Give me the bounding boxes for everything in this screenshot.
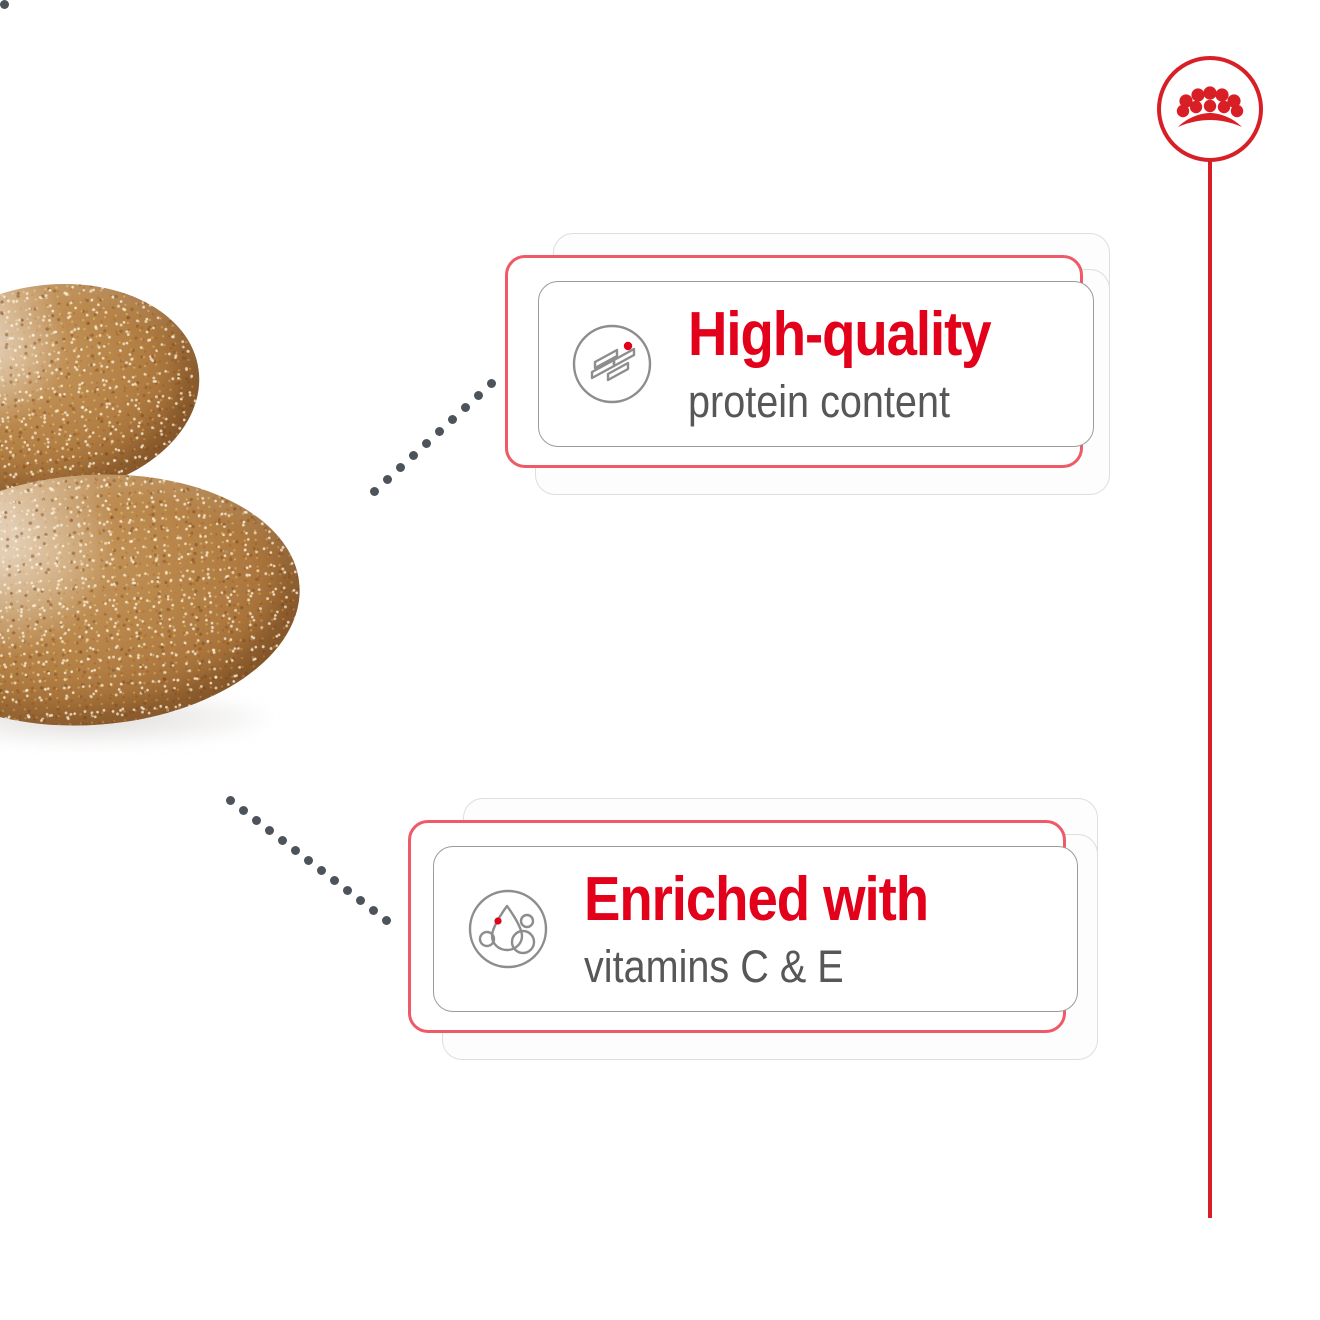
card-title: High-quality [688,303,991,366]
poster-canvas: High-quality protein content [0,0,1320,1320]
brand-logo-circle[interactable] [1157,56,1263,162]
protein-strand-icon [560,312,664,416]
crown-icon [1173,82,1247,136]
card-content: High-quality protein content [560,281,1100,447]
card-subtitle: protein content [688,378,991,425]
card-subtitle: vitamins C & E [584,943,928,990]
feature-card-enriched-vitamins[interactable]: Enriched with vitamins C & E [408,798,1098,1060]
card-text-block: Enriched with vitamins C & E [584,868,975,990]
card-content: Enriched with vitamins C & E [456,846,1086,1012]
brand-mark [1157,56,1267,1266]
brand-vertical-rule [1208,160,1212,1218]
card-text-block: High-quality protein content [688,303,1032,425]
feature-card-high-quality-protein[interactable]: High-quality protein content [505,233,1110,495]
vitamin-droplet-icon [456,877,560,981]
card-title: Enriched with [584,868,928,931]
